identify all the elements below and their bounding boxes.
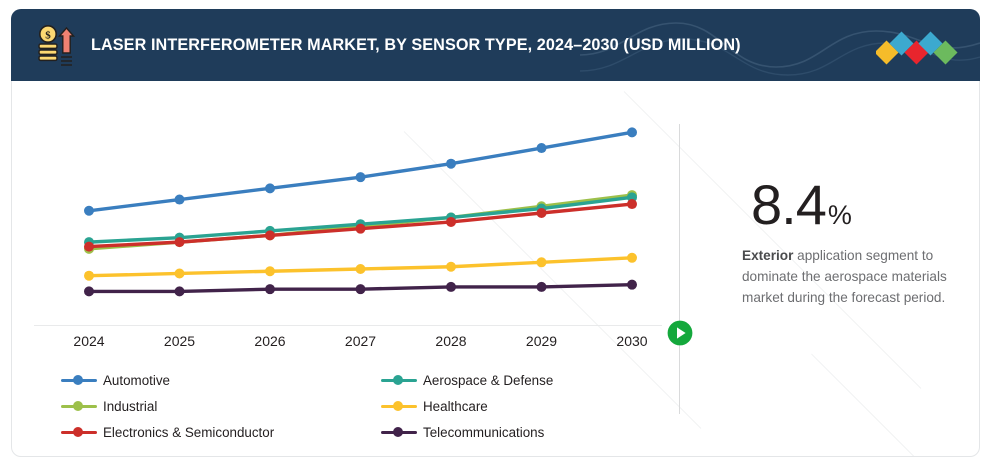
x-axis-tick-label: 2024	[73, 333, 104, 349]
legend-item[interactable]: Industrial	[61, 397, 157, 415]
series-point	[84, 206, 94, 216]
legend-swatch-icon	[61, 374, 97, 386]
legend-swatch-icon	[61, 426, 97, 438]
legend-swatch-icon	[61, 400, 97, 412]
series-point	[84, 271, 94, 281]
series-point	[265, 183, 275, 193]
header-bar: $ LASER INTERFEROMETER MARKET, BY SENSOR…	[11, 9, 980, 81]
stat-panel: 8.4 % Exterior application segment to do…	[721, 81, 971, 457]
play-circle-icon[interactable]	[667, 320, 693, 346]
series-point	[537, 282, 547, 292]
series-point	[446, 282, 456, 292]
stat-unit: %	[828, 202, 852, 229]
infographic-page: $ LASER INTERFEROMETER MARKET, BY SENSOR…	[0, 0, 991, 466]
legend-item[interactable]: Electronics & Semiconductor	[61, 423, 274, 441]
legend-item[interactable]: Automotive	[61, 371, 170, 389]
legend-label: Healthcare	[423, 399, 488, 414]
x-axis-tick-label: 2029	[526, 333, 557, 349]
series-point	[627, 280, 637, 290]
x-axis-line	[34, 325, 662, 326]
stat-description-highlight: Exterior	[742, 248, 793, 263]
series-point	[356, 284, 366, 294]
series-point	[175, 268, 185, 278]
legend-swatch-icon	[381, 400, 417, 412]
series-point	[356, 224, 366, 234]
series-point	[537, 143, 547, 153]
series-point	[537, 208, 547, 218]
vertical-divider	[679, 124, 680, 414]
chart-and-stat-area: 2024202520262027202820292030 AutomotiveI…	[11, 81, 980, 457]
series-point	[446, 159, 456, 169]
series-point	[446, 217, 456, 227]
x-axis-tick-label: 2026	[254, 333, 285, 349]
series-point	[627, 253, 637, 263]
series-point	[627, 127, 637, 137]
x-axis-labels: 2024202520262027202820292030	[34, 333, 662, 357]
series-point	[265, 230, 275, 240]
x-axis-tick-label: 2028	[435, 333, 466, 349]
series-point	[84, 242, 94, 252]
legend-item[interactable]: Telecommunications	[381, 423, 544, 441]
stat-description: Exterior application segment to dominate…	[742, 245, 970, 308]
series-point	[265, 266, 275, 276]
stat-value: 8.4	[751, 177, 826, 233]
legend-label: Electronics & Semiconductor	[103, 425, 274, 440]
series-point	[356, 172, 366, 182]
coins-growth-arrow-icon: $	[33, 23, 79, 69]
legend-item[interactable]: Healthcare	[381, 397, 488, 415]
series-point	[175, 286, 185, 296]
chart-legend: AutomotiveIndustrialElectronics & Semico…	[61, 371, 661, 451]
series-point	[84, 286, 94, 296]
series-point	[627, 199, 637, 209]
x-axis-tick-label: 2027	[345, 333, 376, 349]
legend-label: Industrial	[103, 399, 157, 414]
legend-item[interactable]: Aerospace & Defense	[381, 371, 553, 389]
x-axis-tick-label: 2030	[616, 333, 647, 349]
series-point	[537, 257, 547, 267]
svg-text:$: $	[45, 29, 51, 41]
header-title: LASER INTERFEROMETER MARKET, BY SENSOR T…	[91, 9, 741, 81]
legend-label: Automotive	[103, 373, 170, 388]
chart-plot-area	[34, 93, 662, 343]
legend-label: Telecommunications	[423, 425, 544, 440]
series-point	[265, 284, 275, 294]
series-point	[175, 237, 185, 247]
x-axis-tick-label: 2025	[164, 333, 195, 349]
legend-swatch-icon	[381, 426, 417, 438]
series-point	[175, 195, 185, 205]
series-line	[89, 132, 632, 210]
series-point	[446, 262, 456, 272]
stat-value-group: 8.4 %	[751, 177, 852, 233]
legend-label: Aerospace & Defense	[423, 373, 553, 388]
series-point	[356, 264, 366, 274]
diamond-cluster-icon	[876, 31, 958, 67]
legend-swatch-icon	[381, 374, 417, 386]
